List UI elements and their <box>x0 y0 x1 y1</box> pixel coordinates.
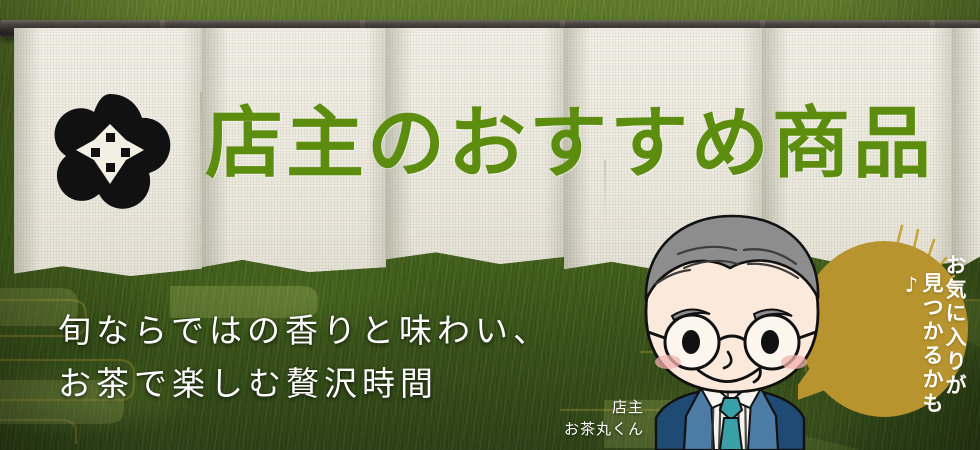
tea-shop-banner: 店主のおすすめ商品 旬ならではの香りと味わい、 お茶で楽しむ贅沢時間 お気に入り… <box>0 0 980 450</box>
shopkeeper-character-illustration <box>612 212 862 450</box>
subtitle-line-2: お茶で楽しむ贅沢時間 <box>58 357 618 410</box>
subtitle-line-1: 旬ならではの香りと味わい、 <box>58 304 618 357</box>
subtitle: 旬ならではの香りと味わい、 お茶で楽しむ贅沢時間 <box>58 304 618 411</box>
character-caption-name: お茶丸くん <box>548 419 644 441</box>
plum-blossom-crest-icon <box>46 88 174 216</box>
character-caption-role: 店主 <box>548 397 644 419</box>
character-caption: 店主 お茶丸くん <box>548 397 644 441</box>
page-title: 店主のおすすめ商品 <box>205 92 965 196</box>
